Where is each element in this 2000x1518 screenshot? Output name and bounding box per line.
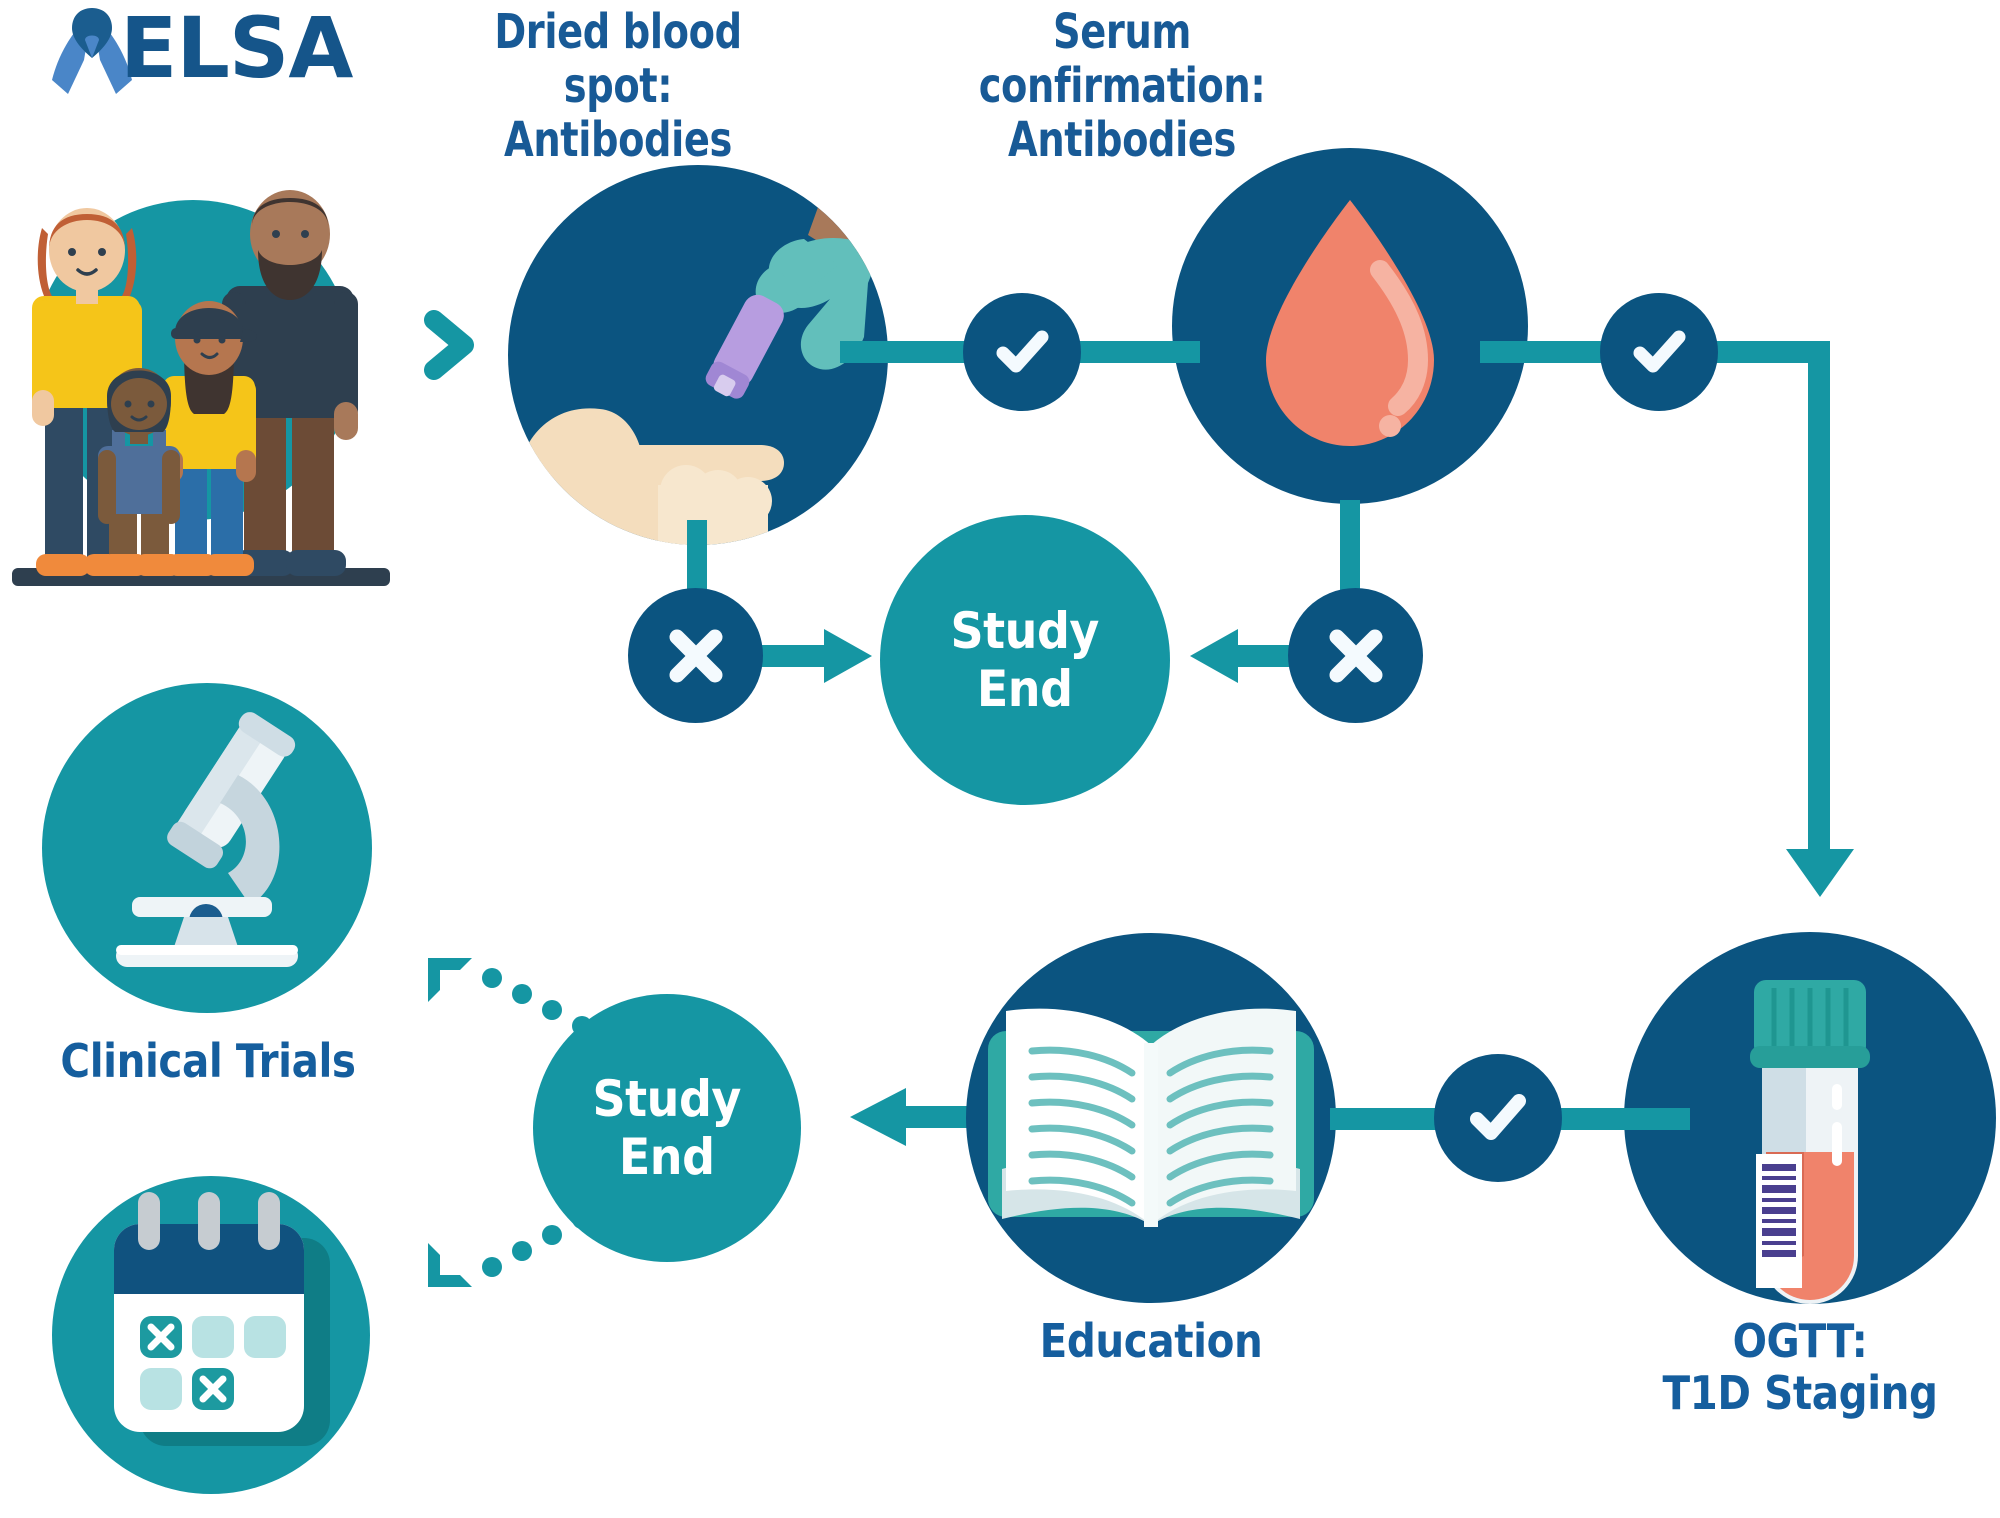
connector-serum-to-fail	[1340, 500, 1360, 595]
ogtt-label: OGTT: T1D Staging	[1615, 1315, 1985, 1420]
blood-drop-icon	[1172, 148, 1528, 504]
fingerstick-lancet-icon	[508, 165, 888, 545]
ogtt-label-line1: OGTT:	[1615, 1315, 1985, 1367]
dbs-label-line1: Dried blood spot:	[442, 6, 794, 114]
study-end-top-line2: End	[951, 660, 1099, 718]
serum-label-line1: Serum confirmation:	[922, 6, 1322, 114]
education-label: Education	[966, 1315, 1336, 1367]
dbs-label-line2: Antibodies	[442, 114, 794, 168]
microscope-icon	[42, 683, 372, 1013]
family-illustration	[8, 110, 398, 610]
dbs-label: Dried blood spot: Antibodies	[442, 6, 794, 167]
study-end-bottom-line1: Study	[593, 1070, 741, 1128]
node-education[interactable]	[966, 933, 1336, 1303]
badge-serum-pass[interactable]	[1600, 293, 1718, 411]
node-monitoring-calendar[interactable]	[52, 1176, 370, 1494]
study-end-bottom-line2: End	[593, 1128, 741, 1186]
node-study-end-top[interactable]: Study End	[880, 515, 1170, 805]
ogtt-label-line2: T1D Staging	[1615, 1367, 1985, 1419]
elsa-logo: ELSA	[28, 4, 358, 109]
check-icon	[987, 317, 1057, 387]
clinical-trials-label-text: Clinical Trials	[32, 1035, 384, 1087]
education-label-text: Education	[966, 1315, 1336, 1367]
calendar-icon	[52, 1176, 370, 1494]
badge-dbs-pass[interactable]	[963, 293, 1081, 411]
badge-serum-fail[interactable]	[1288, 588, 1423, 723]
chevron-right-icon	[424, 310, 478, 380]
node-serum-confirmation[interactable]	[1172, 148, 1528, 504]
badge-dbs-fail[interactable]	[628, 588, 763, 723]
node-clinical-trials[interactable]	[42, 683, 372, 1013]
check-icon	[1460, 1080, 1536, 1156]
connector-drop-to-ogtt	[1808, 341, 1830, 861]
node-study-end-bottom[interactable]: Study End	[533, 994, 801, 1262]
cross-icon	[659, 619, 733, 693]
connector-dbs-to-fail	[687, 520, 707, 595]
flow-diagram: ELSA	[0, 0, 2000, 1518]
serum-label: Serum confirmation: Antibodies	[922, 6, 1322, 167]
open-book-icon	[966, 933, 1336, 1303]
check-icon	[1624, 317, 1694, 387]
study-end-top-text: Study End	[951, 602, 1099, 718]
elsa-logo-text: ELSA	[120, 6, 352, 90]
cross-icon	[1319, 619, 1393, 693]
clinical-trials-label: Clinical Trials	[32, 1035, 384, 1087]
family-member-child	[98, 368, 180, 576]
badge-ogtt-pass[interactable]	[1434, 1054, 1562, 1182]
study-end-bottom-text: Study End	[593, 1070, 741, 1186]
node-dried-blood-spot[interactable]	[508, 165, 888, 545]
study-end-top-line1: Study	[951, 602, 1099, 660]
